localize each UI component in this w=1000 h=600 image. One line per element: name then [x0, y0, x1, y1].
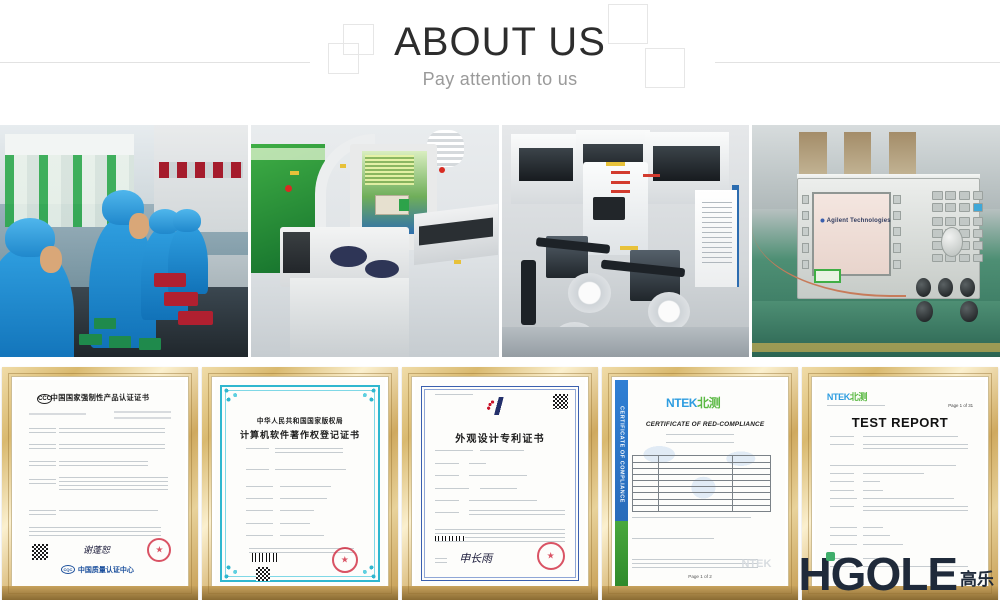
red-label: [643, 174, 660, 177]
cqc-logo-icon: CQC: [61, 565, 75, 574]
certificate-design-patent[interactable]: 外观设计专利证书: [400, 367, 600, 600]
keypad-key[interactable]: [973, 241, 984, 249]
certificate-paper: 中华人民共和国国家版权局 计算机软件著作权登记证书: [215, 380, 385, 587]
red-label: [611, 190, 631, 193]
red-label: [611, 171, 631, 174]
ntek-logo-text: NTEK: [666, 396, 697, 410]
signature: 申长雨: [459, 550, 492, 566]
page-title: ABOUT US: [0, 20, 1000, 64]
certificate-title: CERTIFICATE OF RED-COMPLIANCE: [635, 421, 774, 428]
certificate-mat: 中华人民共和国国家版权局 计算机软件著作权登记证书: [211, 376, 389, 591]
nozzle-block: [593, 197, 625, 220]
keypad-key[interactable]: [932, 254, 943, 262]
ntek-watermark: NTEK: [741, 558, 771, 570]
qr-code: [553, 394, 568, 409]
photo-smt-machine: [251, 125, 499, 357]
higole-wordmark: HGOLE: [798, 554, 957, 594]
keypad-key[interactable]: [932, 217, 943, 225]
machine-base: [290, 278, 409, 357]
compliance-table: [632, 455, 771, 513]
certificate-authority: 中华人民共和国国家版权局: [229, 415, 372, 425]
worker-face: [40, 246, 62, 274]
ntek-logo-cn: 北测: [697, 396, 720, 410]
qr-code: [256, 567, 270, 581]
red-rack-row: [159, 162, 243, 178]
factory-floor: [502, 327, 750, 357]
official-stamp: [537, 542, 565, 570]
higole-chinese-name: 高乐: [960, 565, 994, 594]
ornament-corner: [356, 562, 378, 580]
keypad-key[interactable]: [945, 203, 956, 211]
keypad-key[interactable]: [973, 254, 984, 262]
page-header: ABOUT US Pay attention to us: [0, 0, 1000, 120]
industrial-pc: [283, 232, 310, 274]
worker-body: [0, 246, 74, 357]
emergency-stop-button[interactable]: [439, 167, 445, 173]
hood-window: [653, 146, 720, 181]
ntek-logo: NTEK北测: [827, 390, 867, 403]
keypad-key[interactable]: [932, 191, 943, 199]
issuer-name: 中国质量认证中心: [78, 565, 134, 575]
ornament-corner: [222, 387, 244, 405]
side-label-text: CERTIFICATE OF COMPLIANCE: [615, 392, 628, 516]
yellow-label: [620, 246, 637, 250]
feeder-arm: [521, 260, 536, 325]
certificate-mat: CCC 中国国家强制性产品认证证书: [11, 376, 189, 591]
higole-accent-dot: [826, 552, 835, 561]
tape-reel: [568, 273, 610, 312]
warning-label: [340, 164, 346, 168]
keypad-key[interactable]: [932, 203, 943, 211]
page-number: Page 1 of 2: [615, 574, 785, 579]
signature: 谢蓬恕: [83, 543, 110, 556]
pcb-board: [109, 336, 131, 348]
rf-port: [916, 301, 933, 322]
higole-logo: HGOLE 高乐: [798, 554, 994, 594]
warning-label: [290, 171, 299, 175]
photo-assembly-line: [0, 125, 248, 357]
pcb-board: [79, 334, 101, 346]
hood-window: [519, 148, 574, 180]
screen-dialog-accent: [399, 199, 409, 211]
keypad-key[interactable]: [959, 191, 970, 199]
barcode: [435, 536, 465, 541]
screen-text-lines: [365, 155, 415, 185]
rf-port: [960, 278, 975, 297]
page-number: Page 1 of 31: [948, 403, 973, 408]
keypad-key[interactable]: [973, 217, 984, 225]
red-tray: [154, 273, 186, 287]
ntek-logo-cn: 北测: [850, 392, 867, 402]
keypad-key[interactable]: [945, 217, 956, 225]
certificate-red-compliance[interactable]: CERTIFICATE OF COMPLIANCE NTEK北测 CERTIFI…: [600, 367, 800, 600]
certificate-frame: 中华人民共和国国家版权局 计算机软件著作权登记证书: [202, 367, 398, 600]
pcb-board: [94, 318, 116, 330]
rotary-knob[interactable]: [941, 227, 963, 257]
keypad-key-active[interactable]: [973, 203, 984, 211]
frame-base: [2, 586, 198, 600]
pcb-board: [139, 338, 161, 350]
certificate-frame: 外观设计专利证书: [402, 367, 598, 600]
certificate-title: TEST REPORT: [815, 415, 985, 430]
ntek-logo-text: NTEK: [827, 392, 850, 402]
white-shelf-top: [5, 134, 134, 155]
clipboard-text-lines: [702, 202, 732, 267]
header-text-block: ABOUT US Pay attention to us: [0, 0, 1000, 90]
cqc-issuer: CQC 中国质量认证中心: [61, 565, 134, 575]
red-tray: [178, 311, 213, 325]
certificate-mat: CERTIFICATE OF COMPLIANCE NTEK北测 CERTIFI…: [611, 376, 789, 591]
keypad-key[interactable]: [945, 191, 956, 199]
ornament-corner: [222, 562, 244, 580]
rf-port: [916, 278, 931, 297]
worker-cap: [173, 209, 200, 232]
red-label: [611, 181, 631, 184]
machine-vent: [330, 246, 367, 267]
certificate-paper: CCC 中国国家强制性产品认证证书: [15, 380, 185, 587]
soft-key[interactable]: [802, 195, 809, 204]
patent-office-logo: [486, 397, 508, 415]
certificate-title: 中国国家强制性产品认证证书: [25, 393, 175, 403]
machine-vent: [365, 260, 400, 279]
certificate-software-copyright[interactable]: 中华人民共和国国家版权局 计算机软件著作权登记证书: [200, 367, 400, 600]
qr-code: [32, 544, 48, 560]
certificate-frame: CERTIFICATE OF COMPLIANCE NTEK北测 CERTIFI…: [602, 367, 798, 600]
soft-key[interactable]: [893, 195, 900, 204]
certificate-paper: CERTIFICATE OF COMPLIANCE NTEK北测 CERTIFI…: [615, 380, 785, 587]
worker-face: [129, 213, 149, 239]
photo-test-instrument: Agilent Technologies: [752, 125, 1000, 357]
barcode: [252, 553, 278, 562]
certificate-title: 外观设计专利证书: [429, 430, 572, 445]
warning-label: [454, 260, 461, 264]
keypad-key[interactable]: [959, 203, 970, 211]
ornament-corner: [356, 387, 378, 405]
bench-edge-strip: [752, 343, 1000, 352]
ntek-logo: NTEK北测: [666, 394, 720, 411]
rf-cable: [752, 218, 906, 297]
page-subtitle: Pay attention to us: [0, 68, 1000, 90]
certificate-ccc[interactable]: CCC 中国国家强制性产品认证证书: [0, 367, 200, 600]
photo-component-feeders: [502, 125, 750, 357]
official-stamp: [147, 538, 171, 562]
frame-base: [602, 586, 798, 600]
rf-port: [960, 301, 977, 322]
frame-base: [402, 586, 598, 600]
certificate-mat: 外观设计专利证书: [411, 376, 589, 591]
official-stamp: [332, 547, 358, 573]
certificate-paper: 外观设计专利证书: [415, 380, 585, 587]
panel-light-strip: [251, 148, 325, 160]
higole-wordmark-text: HGOLE: [798, 548, 957, 600]
factory-photo-gallery: Agilent Technologies: [0, 125, 1000, 357]
keypad-key[interactable]: [973, 229, 984, 237]
keypad-key[interactable]: [973, 191, 984, 199]
keypad-key[interactable]: [959, 217, 970, 225]
keypad-key[interactable]: [959, 254, 970, 262]
certificate-title: 计算机软件著作权登记证书: [229, 428, 372, 441]
rf-port: [938, 278, 953, 297]
certificate-frame: CCC 中国国家强制性产品认证证书: [2, 367, 198, 600]
yellow-label: [606, 162, 626, 166]
about-us-page: ABOUT US Pay attention to us: [0, 0, 1000, 600]
frame-base: [202, 586, 398, 600]
red-tray: [164, 292, 199, 306]
tape-reel: [648, 292, 690, 331]
